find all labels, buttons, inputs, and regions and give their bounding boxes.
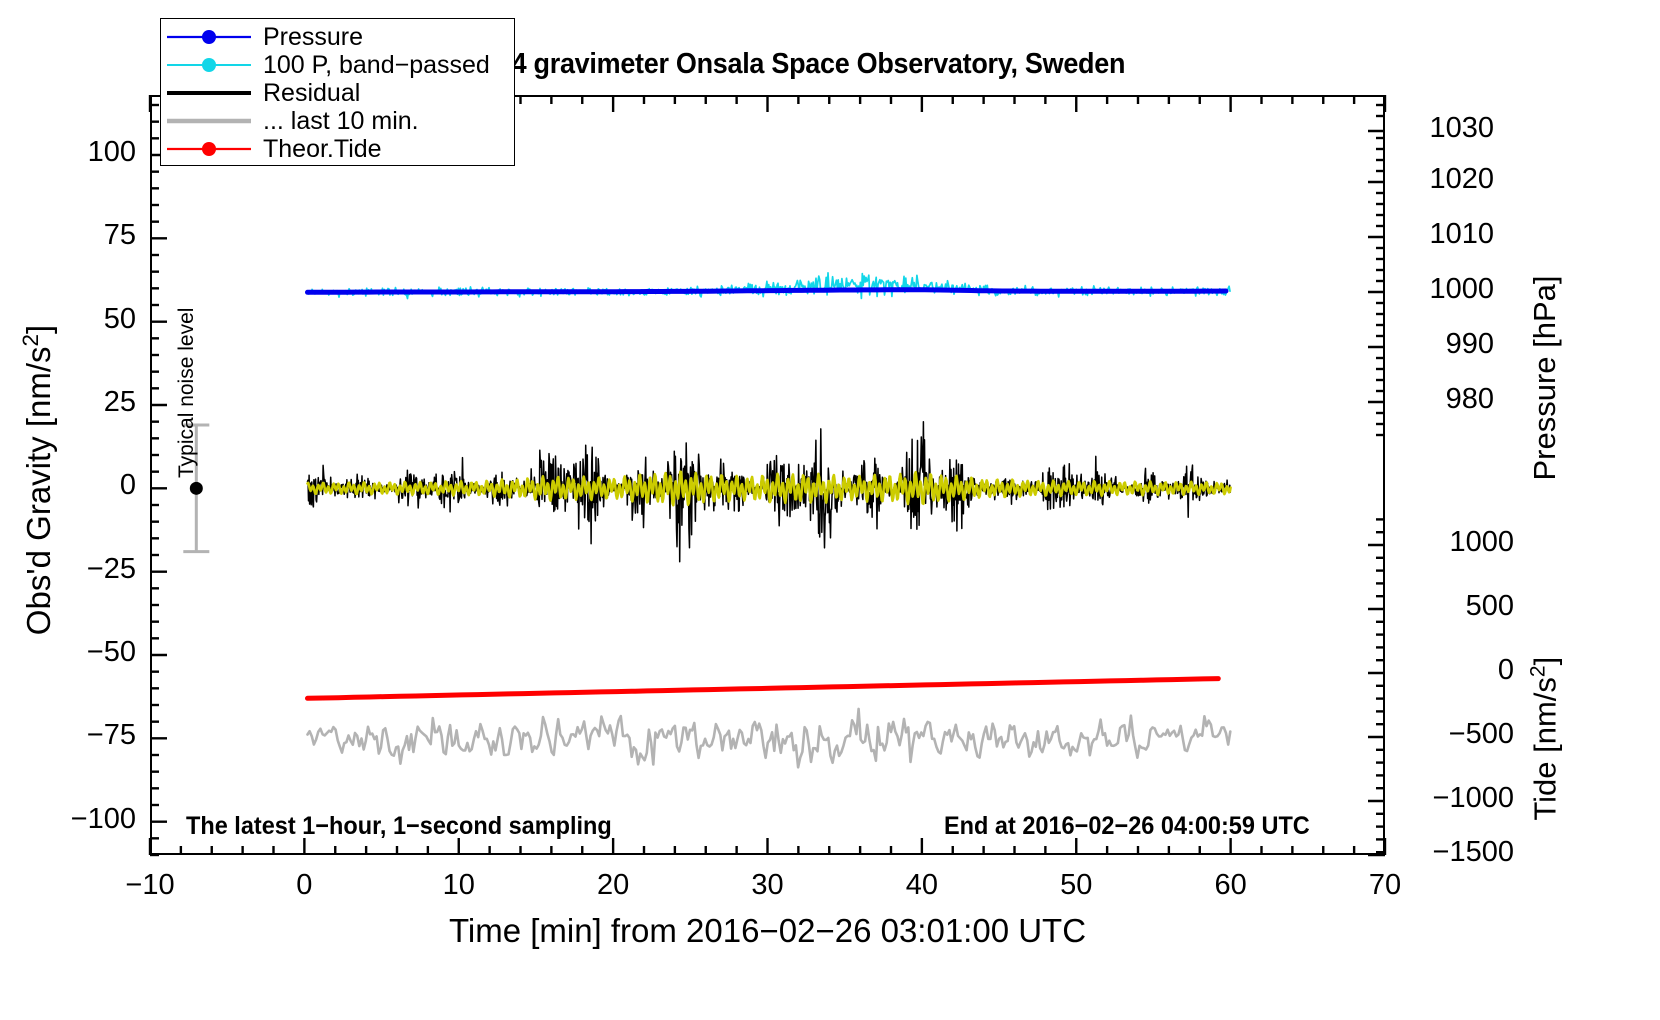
legend-label: 100 P, band−passed [257,51,490,79]
legend-swatch-100-p-band-passed [161,51,257,79]
legend-label: Residual [257,79,360,107]
x-tick-label: 20 [553,869,673,902]
legend-item[interactable]: Pressure [161,23,514,51]
y-tick-label-left: 100 [26,136,136,169]
y-tick-label-right-pressure: 1000 [1409,273,1494,306]
series-pressure [308,290,1227,293]
y-tick-label-right-tide: 1000 [1409,526,1514,559]
legend-label: Theor.Tide [257,135,382,163]
legend-item[interactable]: 100 P, band−passed [161,51,514,79]
x-tick-label: 50 [1016,869,1136,902]
y-tick-label-right-pressure: 1020 [1409,163,1494,196]
y-tick-label-left: −50 [26,636,136,669]
caption-sampling-info: The latest 1−hour, 1−second sampling [186,812,612,841]
legend-item[interactable]: Residual [161,79,514,107]
legend-label: ... last 10 min. [257,107,419,135]
series-last-10-min [308,709,1231,767]
y-tick-label-left: −25 [26,553,136,586]
x-tick-label: 40 [862,869,982,902]
noise-level-marker [190,482,203,495]
y-tick-label-left: −75 [26,719,136,752]
x-axis-title: Time [min] from 2016−02−26 03:01:00 UTC [150,912,1385,950]
chart-legend[interactable]: Pressure100 P, band−passedResidual... la… [160,18,515,166]
legend-item[interactable]: ... last 10 min. [161,107,514,135]
caption-end-time: End at 2016−02−26 04:00:59 UTC [944,812,1310,841]
y-tick-label-left: −100 [26,803,136,836]
y-tick-label-left: 75 [26,219,136,252]
y-tick-label-right-pressure: 990 [1409,328,1494,361]
y-axis-right-tide-title: Tide [nm/s2] [1526,589,1563,889]
legend-swatch-pressure [161,23,257,51]
legend-swatch-last-10-min [161,107,257,135]
legend-item[interactable]: Theor.Tide [161,135,514,163]
legend-swatch-theor-tide [161,135,257,163]
series-theoretical-tide [308,679,1219,699]
y-axis-right-tide-title-sup: 2 [1526,665,1549,677]
y-tick-label-right-tide: −1500 [1409,836,1514,869]
y-tick-label-right-tide: −1000 [1409,782,1514,815]
y-tick-label-right-pressure: 1010 [1409,218,1494,251]
y-tick-label-left: 0 [26,469,136,502]
x-tick-label: 30 [708,869,828,902]
x-tick-label: −10 [90,869,210,902]
y-axis-right-tide-title-end: ] [1528,657,1563,666]
y-axis-left-title-sup: 2 [18,334,43,346]
series-pressure-bandpassed [308,273,1231,299]
chart-canvas: SCG_054 gravimeter Onsala Space Observat… [0,0,1660,1020]
x-tick-label: 10 [399,869,519,902]
x-tick-label: 60 [1171,869,1291,902]
y-axis-right-tide-title-text: Tide [nm/s [1528,677,1563,821]
y-tick-label-left: 25 [26,386,136,419]
y-tick-label-right-tide: 500 [1409,590,1514,623]
y-tick-label-right-tide: −500 [1409,718,1514,751]
y-tick-label-right-tide: 0 [1409,654,1514,687]
legend-swatch-residual [161,79,257,107]
y-tick-label-right-pressure: 980 [1409,383,1494,416]
y-tick-label-right-pressure: 1030 [1409,112,1494,145]
x-tick-label: 70 [1325,869,1445,902]
y-tick-label-left: 50 [26,303,136,336]
y-axis-right-pressure-title: Pressure [hPa] [1527,163,1563,593]
x-tick-label: 0 [244,869,364,902]
typical-noise-level-label: Typical noise level [175,308,199,478]
legend-label: Pressure [257,23,363,51]
